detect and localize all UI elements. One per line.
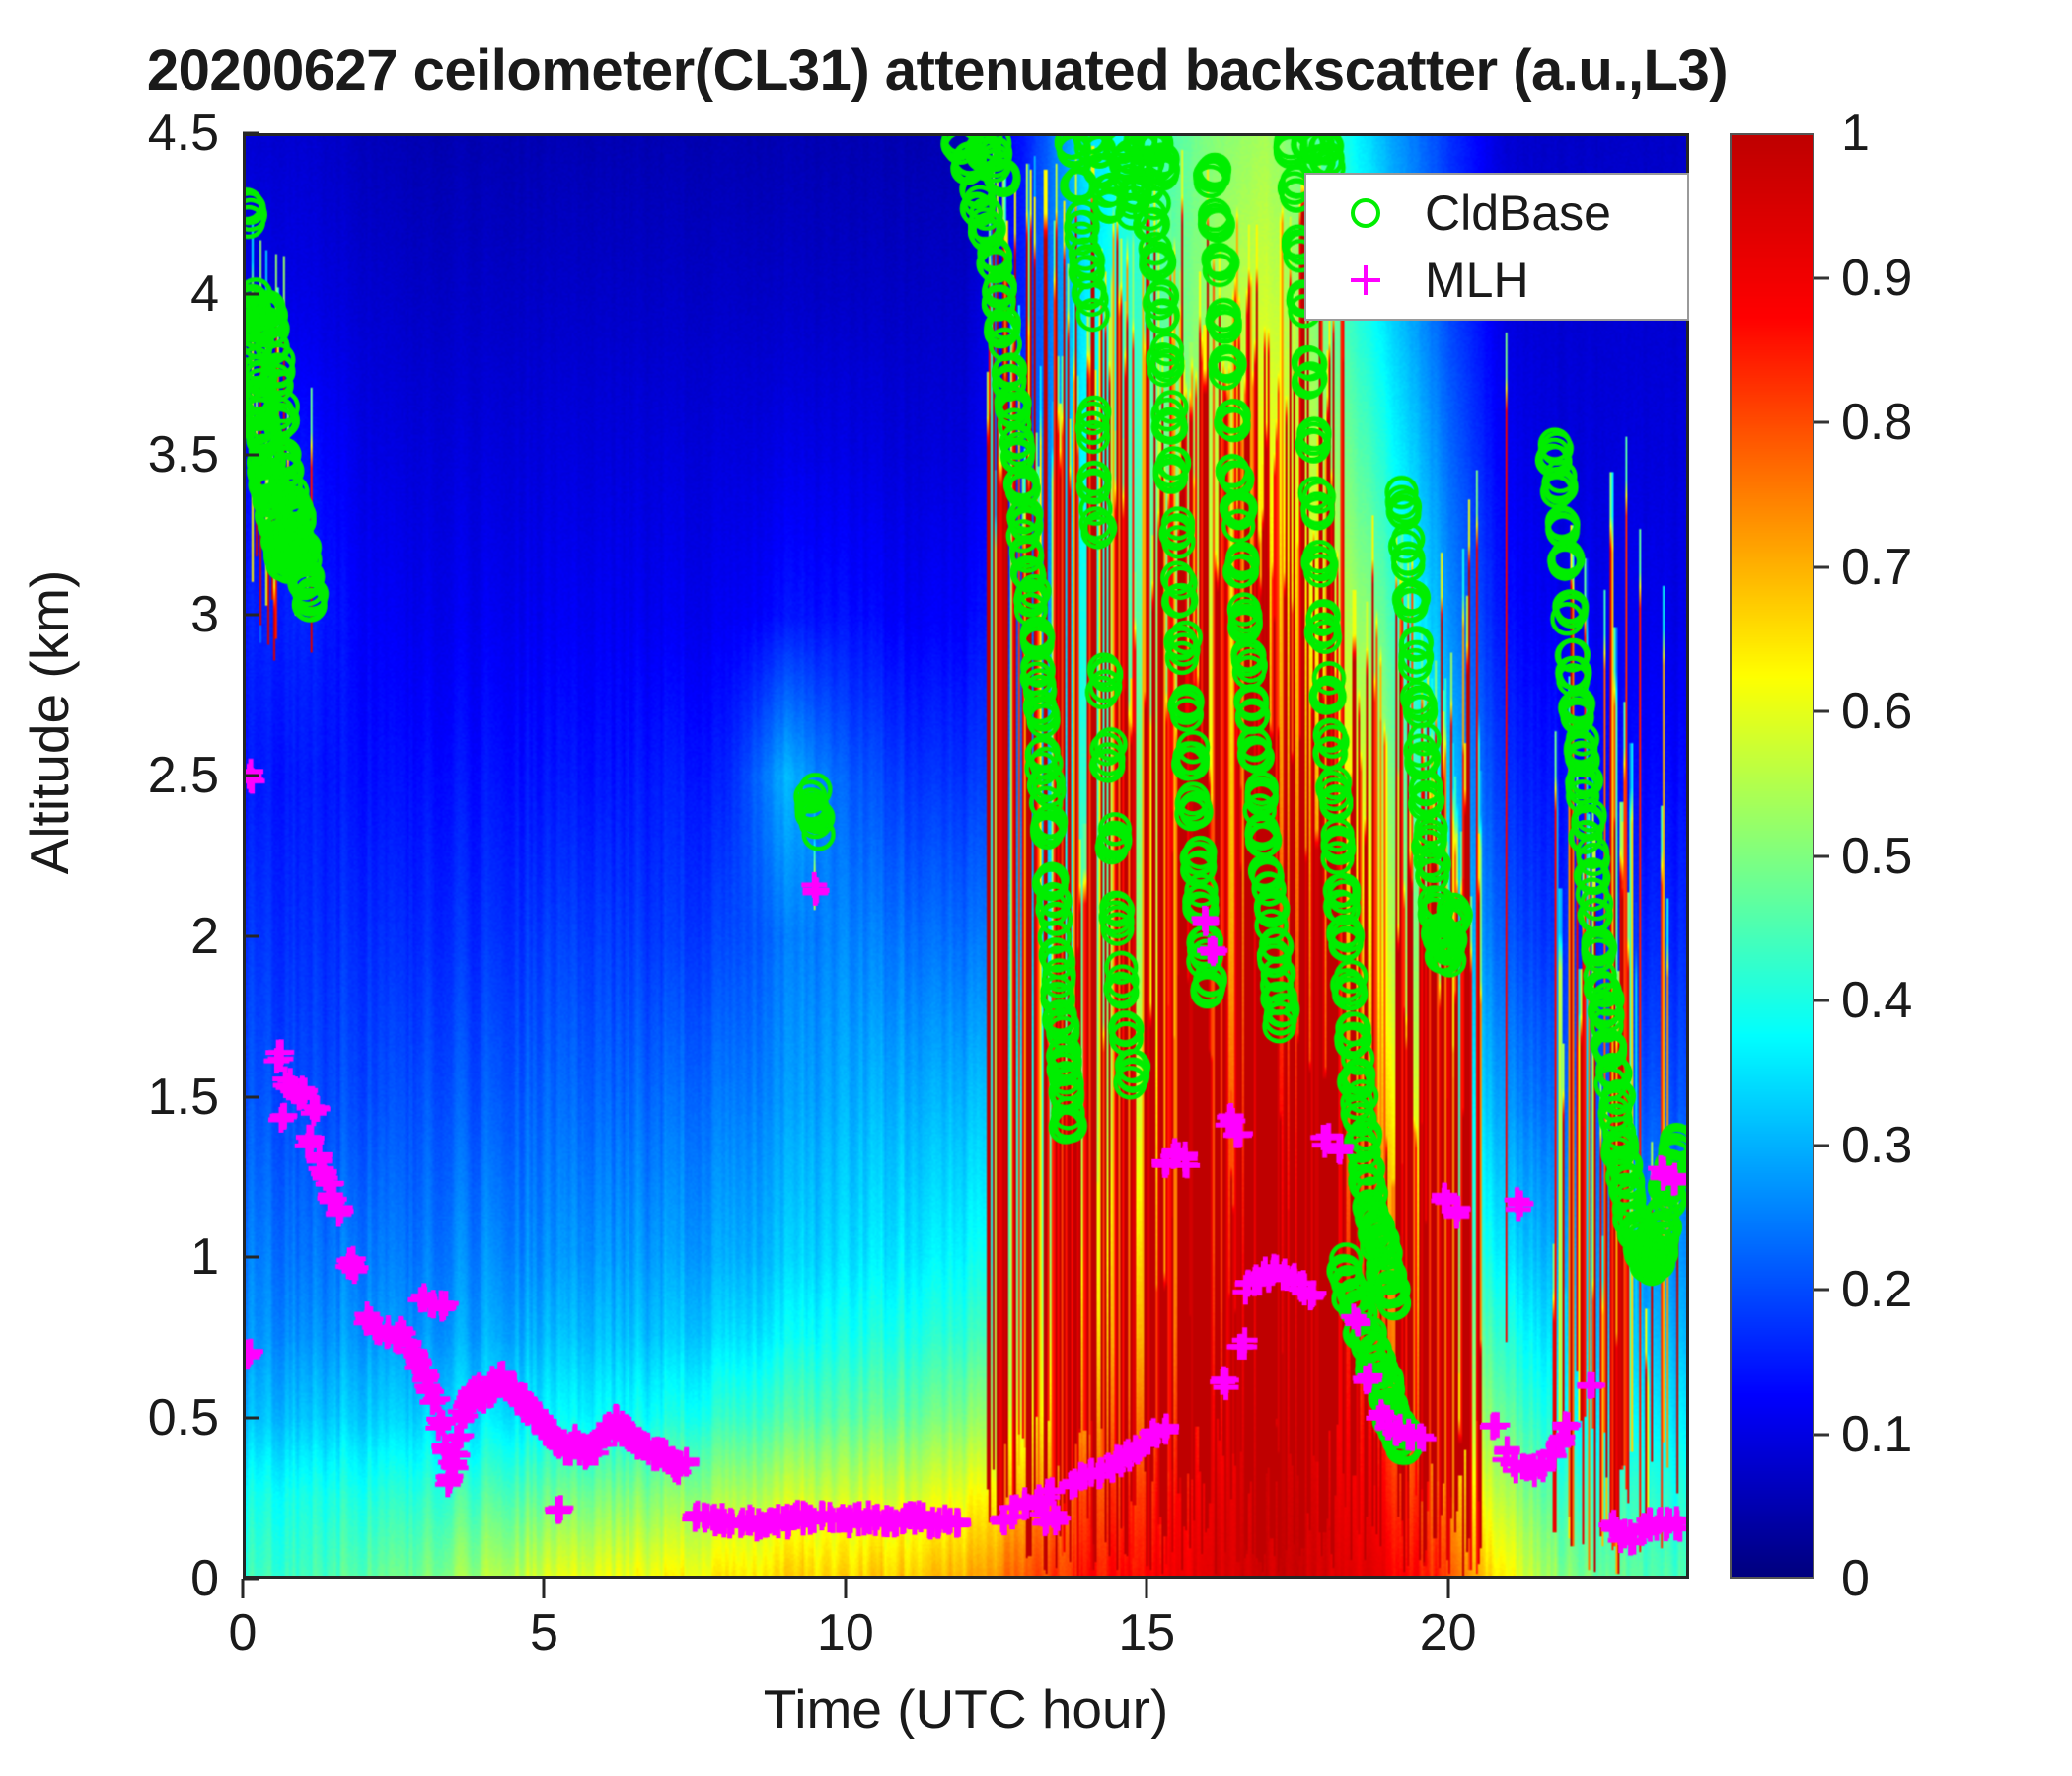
figure-title: 20200627 ceilometer(CL31) attenuated bac… [0,37,1875,104]
colorbar-tick-label: 0.7 [1841,538,1912,597]
y-tick-mark [243,1256,259,1259]
legend-item-cldbase: CldBase [1306,180,1687,247]
colorbar-tick-mark [1814,999,1829,1002]
x-tick-mark [1146,1579,1148,1598]
y-tick-label: 2 [190,907,219,966]
colorbar-tick-label: 0.9 [1841,249,1912,308]
colorbar-tick-mark [1814,421,1829,424]
y-tick-label: 4 [190,264,219,324]
colorbar-tick-label: 0.8 [1841,393,1912,452]
y-tick-label: 1.5 [148,1068,219,1127]
legend: CldBase MLH [1304,173,1689,321]
x-tick-mark [543,1579,546,1598]
ceilometer-backscatter-figure: 20200627 ceilometer(CL31) attenuated bac… [0,0,2072,1776]
colorbar-tick-label: 0 [1841,1549,1870,1608]
y-tick-label: 3.5 [148,425,219,484]
plot-area [243,133,1689,1579]
colorbar-tick-label: 0.5 [1841,827,1912,886]
colorbar-tick-label: 0.4 [1841,971,1912,1030]
colorbar-tick-label: 0.1 [1841,1405,1912,1464]
y-tick-label: 0.5 [148,1388,219,1447]
colorbar-tick-mark [1814,1289,1829,1292]
colorbar-tick-mark [1814,854,1829,857]
marker-overlay [246,136,1686,1576]
legend-label-cldbase: CldBase [1425,185,1611,242]
y-tick-mark [243,1417,259,1420]
plus-marker-icon [1306,260,1425,300]
y-tick-mark [243,132,259,135]
x-tick-mark [844,1579,847,1598]
x-tick-mark [242,1579,245,1598]
colorbar-tick-mark [1814,1433,1829,1436]
x-tick-mark [1446,1579,1449,1598]
y-tick-mark [243,1578,259,1581]
colorbar-tick-mark [1814,276,1829,279]
x-axis-label: Time (UTC hour) [243,1677,1689,1740]
colorbar-tick-mark [1814,1144,1829,1147]
legend-item-mlh: MLH [1306,247,1687,314]
colorbar-tick-mark [1814,710,1829,713]
y-tick-label: 0 [190,1549,219,1608]
colorbar-tick-mark [1814,565,1829,568]
y-tick-mark [243,614,259,617]
y-axis-label: Altitude (km) [18,347,81,1097]
y-tick-mark [243,453,259,456]
x-tick-label: 10 [817,1603,874,1663]
y-tick-mark [243,934,259,937]
y-tick-mark [243,775,259,777]
x-tick-label: 0 [229,1603,258,1663]
y-tick-label: 2.5 [148,746,219,805]
y-tick-label: 1 [190,1227,219,1287]
circle-marker-icon [1306,193,1425,233]
x-tick-label: 20 [1420,1603,1477,1663]
x-tick-label: 15 [1118,1603,1175,1663]
colorbar-tick-label: 0.3 [1841,1116,1912,1175]
colorbar-tick-label: 1 [1841,104,1870,163]
colorbar-tick-label: 0.2 [1841,1260,1912,1319]
y-tick-label: 4.5 [148,104,219,163]
colorbar-tick-label: 0.6 [1841,682,1912,741]
y-tick-mark [243,1095,259,1098]
colorbar-gradient [1732,135,1813,1577]
legend-label-mlh: MLH [1425,252,1529,309]
y-tick-mark [243,292,259,295]
x-tick-label: 5 [530,1603,558,1663]
y-tick-label: 3 [190,585,219,644]
colorbar [1730,133,1814,1579]
